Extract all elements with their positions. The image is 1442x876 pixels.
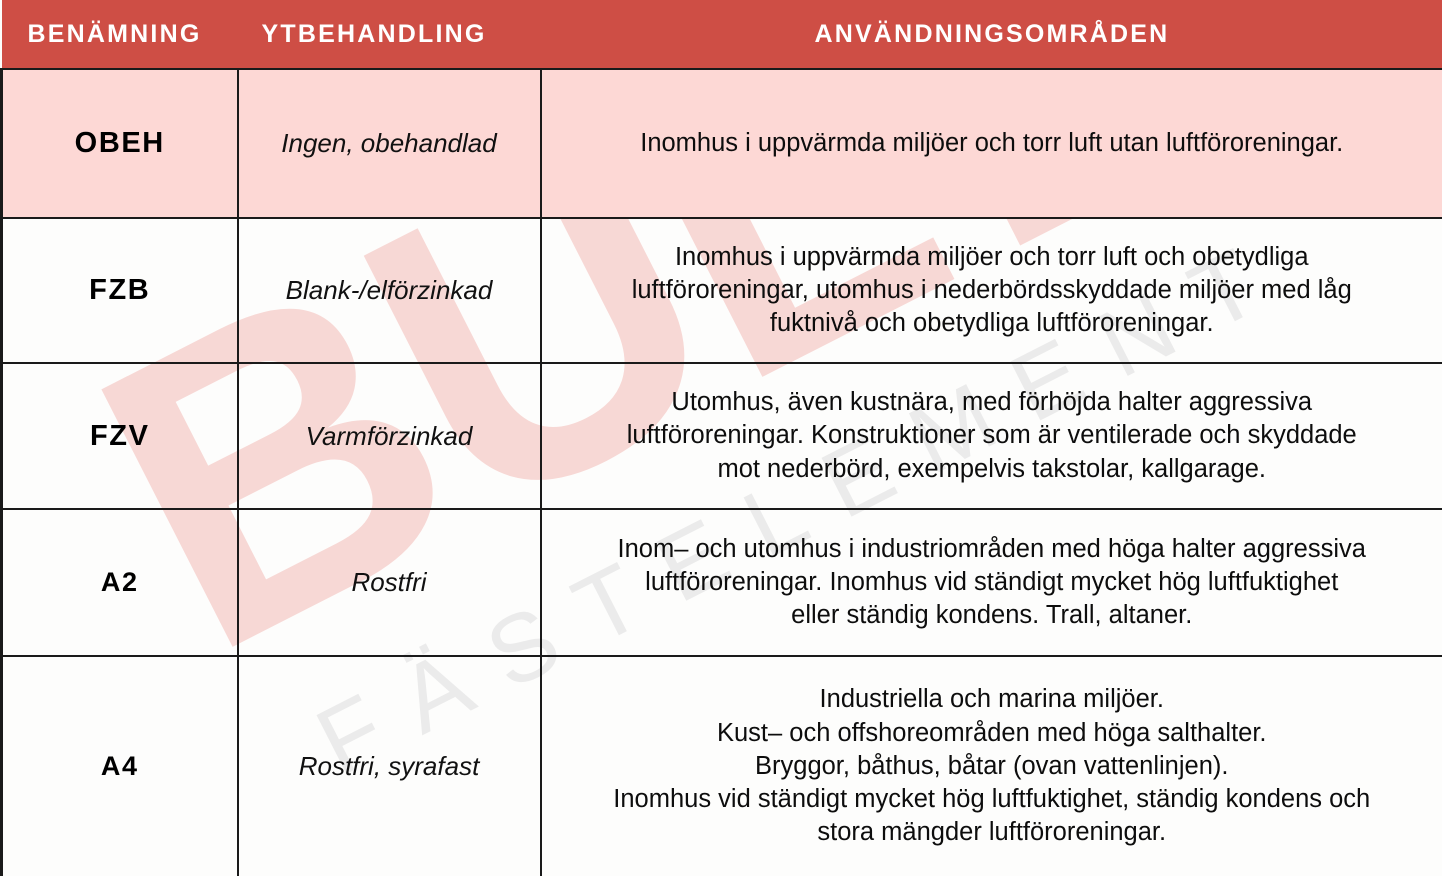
column-header-anvandningsomraden: ANVÄNDNINGSOMRÅDEN bbox=[541, 0, 1442, 69]
cell-usage: Utomhus, även kustnära, med förhöjda hal… bbox=[541, 363, 1442, 509]
cell-code: FZV bbox=[2, 363, 238, 509]
usage-line: Inomhus vid ständigt mycket hög luftfukt… bbox=[556, 783, 1429, 816]
usage-line: Industriella och marina miljöer. bbox=[556, 683, 1429, 716]
column-header-benamning: BENÄMNING bbox=[2, 0, 238, 69]
cell-usage: Inom– och utomhus i industriområden med … bbox=[541, 509, 1442, 656]
cell-treatment: Rostfri bbox=[238, 509, 541, 656]
table-row: OBEH Ingen, obehandlad Inomhus i uppvärm… bbox=[2, 69, 1442, 218]
usage-line: luftföroreningar, utomhus i nederbördssk… bbox=[556, 274, 1429, 307]
table-container: BENÄMNING YTBEHANDLING ANVÄNDNINGSOMRÅDE… bbox=[0, 0, 1442, 876]
table-row: A4 Rostfri, syrafast Industriella och ma… bbox=[2, 656, 1442, 876]
column-header-ytbehandling: YTBEHANDLING bbox=[238, 0, 541, 69]
usage-line: Inomhus i uppvärmda miljöer och torr luf… bbox=[556, 127, 1429, 160]
header-row: BENÄMNING YTBEHANDLING ANVÄNDNINGSOMRÅDE… bbox=[2, 0, 1442, 69]
usage-line: luftföroreningar. Konstruktioner som är … bbox=[556, 419, 1429, 452]
usage-line: fuktnivå och obetydliga luftföroreningar… bbox=[556, 307, 1429, 340]
usage-line: Utomhus, även kustnära, med förhöjda hal… bbox=[556, 386, 1429, 419]
surface-treatment-table: BENÄMNING YTBEHANDLING ANVÄNDNINGSOMRÅDE… bbox=[0, 0, 1442, 876]
table-row: A2 Rostfri Inom– och utomhus i industrio… bbox=[2, 509, 1442, 656]
cell-treatment: Varmförzinkad bbox=[238, 363, 541, 509]
cell-treatment: Rostfri, syrafast bbox=[238, 656, 541, 876]
table-row: FZV Varmförzinkad Utomhus, även kustnära… bbox=[2, 363, 1442, 509]
table-body: OBEH Ingen, obehandlad Inomhus i uppvärm… bbox=[2, 69, 1442, 876]
cell-code: OBEH bbox=[2, 69, 238, 218]
cell-treatment: Blank-/elförzinkad bbox=[238, 218, 541, 363]
usage-line: Inomhus i uppvärmda miljöer och torr luf… bbox=[556, 241, 1429, 274]
usage-line: Kust– och offshoreområden med höga salth… bbox=[556, 717, 1429, 750]
table-row: FZB Blank-/elförzinkad Inomhus i uppvärm… bbox=[2, 218, 1442, 363]
usage-line: eller ständig kondens. Trall, altaner. bbox=[556, 599, 1429, 632]
cell-usage: Inomhus i uppvärmda miljöer och torr luf… bbox=[541, 69, 1442, 218]
usage-line: mot nederbörd, exempelvis takstolar, kal… bbox=[556, 453, 1429, 486]
cell-code: A2 bbox=[2, 509, 238, 656]
cell-usage: Industriella och marina miljöer. Kust– o… bbox=[541, 656, 1442, 876]
cell-usage: Inomhus i uppvärmda miljöer och torr luf… bbox=[541, 218, 1442, 363]
cell-treatment: Ingen, obehandlad bbox=[238, 69, 541, 218]
usage-line: Bryggor, båthus, båtar (ovan vattenlinje… bbox=[556, 750, 1429, 783]
usage-line: Inom– och utomhus i industriområden med … bbox=[556, 533, 1429, 566]
usage-line: luftföroreningar. Inomhus vid ständigt m… bbox=[556, 566, 1429, 599]
cell-code: FZB bbox=[2, 218, 238, 363]
table-header: BENÄMNING YTBEHANDLING ANVÄNDNINGSOMRÅDE… bbox=[2, 0, 1442, 69]
surface-treatment-table-page: BULTAB FÄSTELEMENT BENÄMNING YTBEHANDLIN… bbox=[0, 0, 1442, 876]
usage-line: stora mängder luftföroreningar. bbox=[556, 816, 1429, 849]
cell-code: A4 bbox=[2, 656, 238, 876]
